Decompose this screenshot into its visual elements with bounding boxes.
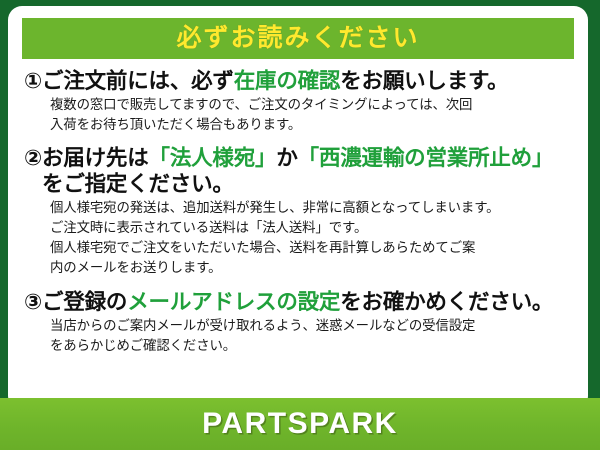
notice-frame: 必ずお読みください ①ご注文前には、必ず在庫の確認をお願いします。複数の窓口で販… <box>0 0 600 450</box>
heading-segment: をお願いします。 <box>340 69 508 93</box>
description-line: 個人様宅宛でご注文をいただいた場合、送料を再計算しあらためてご案 <box>50 238 572 258</box>
heading-segment: か <box>276 146 297 170</box>
notice-item-heading: ②お届け先は「法人様宛」か「西濃運輸の営業所止め」をご指定ください。 <box>24 145 572 197</box>
description-line: をあらかじめご確認ください。 <box>50 336 572 356</box>
description-line: 入荷をお待ち頂いただく場合もあります。 <box>50 115 572 135</box>
notice-item-heading: ③ご登録のメールアドレスの設定をお確かめください。 <box>24 289 572 315</box>
brand-footer: PARTSPARK <box>0 398 600 450</box>
notice-item-heading-text: ご登録のメールアドレスの設定をお確かめください。 <box>42 289 572 315</box>
heading-segment: ご注文前には、必ず <box>42 69 234 93</box>
notice-item: ②お届け先は「法人様宛」か「西濃運輸の営業所止め」をご指定ください。個人様宅宛の… <box>24 145 572 278</box>
notice-list: ①ご注文前には、必ず在庫の確認をお願いします。複数の窓口で販売してますので、ご注… <box>22 59 574 356</box>
notice-panel: 必ずお読みください ①ご注文前には、必ず在庫の確認をお願いします。複数の窓口で販… <box>8 6 588 410</box>
page-title: 必ずお読みください <box>176 26 419 51</box>
notice-item-description: 個人様宅宛の発送は、追加送料が発生し、非常に高額となってしまいます。ご注文時に表… <box>50 198 572 277</box>
notice-item-heading-text: ご注文前には、必ず在庫の確認をお願いします。 <box>42 68 572 94</box>
notice-item-number: ② <box>24 145 42 171</box>
heading-segment: をご指定ください。 <box>42 172 234 196</box>
description-line: 複数の窓口で販売してますので、ご注文のタイミングによっては、次回 <box>50 95 572 115</box>
heading-segment: ご登録の <box>42 290 127 314</box>
heading-segment: をお確かめください。 <box>340 290 553 314</box>
description-line: 内のメールをお送りします。 <box>50 258 572 278</box>
highlighted-phrase: 在庫の確認 <box>234 69 341 93</box>
highlighted-phrase: 「西濃運輸の営業所止め」 <box>298 146 554 170</box>
notice-item-number: ① <box>24 68 42 94</box>
description-line: ご注文時に表示されている送料は「法人送料」です。 <box>50 218 572 238</box>
notice-item-description: 当店からのご案内メールが受け取れるよう、迷惑メールなどの受信設定をあらかじめご確… <box>50 316 572 356</box>
notice-item-number: ③ <box>24 289 42 315</box>
notice-item-description: 複数の窓口で販売してますので、ご注文のタイミングによっては、次回入荷をお待ち頂い… <box>50 95 572 135</box>
notice-item-heading: ①ご注文前には、必ず在庫の確認をお願いします。 <box>24 68 572 94</box>
description-line: 個人様宅宛の発送は、追加送料が発生し、非常に高額となってしまいます。 <box>50 198 572 218</box>
heading-segment: お届け先は <box>42 146 149 170</box>
notice-item-heading-text: お届け先は「法人様宛」か「西濃運輸の営業所止め」をご指定ください。 <box>42 145 572 197</box>
notice-item: ①ご注文前には、必ず在庫の確認をお願いします。複数の窓口で販売してますので、ご注… <box>24 68 572 135</box>
brand-name: PARTSPARK <box>202 409 398 439</box>
description-line: 当店からのご案内メールが受け取れるよう、迷惑メールなどの受信設定 <box>50 316 572 336</box>
notice-item: ③ご登録のメールアドレスの設定をお確かめください。当店からのご案内メールが受け取… <box>24 289 572 356</box>
title-bar: 必ずお読みください <box>22 18 574 59</box>
highlighted-phrase: 「法人様宛」 <box>149 146 277 170</box>
highlighted-phrase: メールアドレスの設定 <box>127 290 340 314</box>
